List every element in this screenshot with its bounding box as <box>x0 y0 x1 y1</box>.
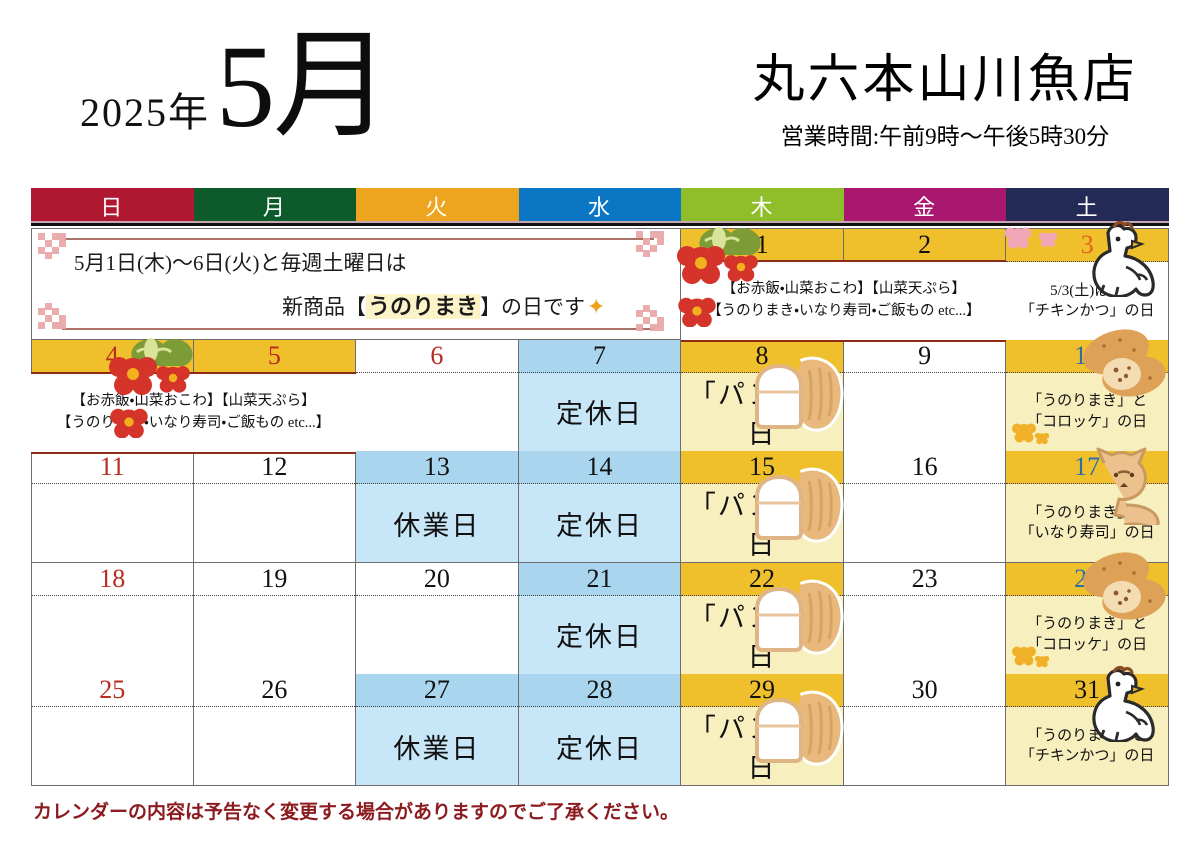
checker-decor-icon <box>38 233 72 259</box>
calendar-day-cell-20[interactable]: 20 <box>356 563 519 675</box>
calendar-day-cell-31[interactable]: 31「うのりまき」と「チキンかつ」の日 <box>1006 674 1169 786</box>
day-content <box>32 707 193 785</box>
day-number: 29 <box>681 674 843 707</box>
calendar-day-cell-19[interactable]: 19 <box>194 563 357 675</box>
day-content <box>844 707 1006 785</box>
day-content <box>32 484 193 562</box>
year-label: 2025年 <box>80 80 210 146</box>
food-menu-text: 【お赤飯・山菜おこわ】【山菜天ぷら】【うのりまき・いなり寿司・ご飯もの etc.… <box>707 279 980 323</box>
calendar-day-cell-28[interactable]: 28定休日 <box>519 674 682 786</box>
day-content <box>194 707 356 785</box>
banner-line2-post: 】の日です <box>480 295 585 319</box>
day-number: 15 <box>681 451 843 484</box>
day-content <box>194 596 356 674</box>
shop-name: 丸六本山川魚店 <box>730 52 1160 109</box>
day-content: 「うのりまき」と「チキンかつ」の日 <box>1006 707 1168 785</box>
banner-product-name: うのりまき <box>366 294 480 319</box>
day-label-text: 「パン」の日 <box>681 373 843 451</box>
day-number: 14 <box>519 451 681 484</box>
calendar-week-row: 18192021定休日22「パン」の日 2324「うのりまき」と「コロッケ」の日 <box>31 563 1169 675</box>
calendar-day-cell-9[interactable]: 9 <box>844 340 1007 452</box>
footer-notice: カレンダーの内容は予告なく変更する場合がありますのでご了承ください。 <box>33 797 679 824</box>
day-content: 「パン」の日 <box>681 484 843 562</box>
day-number: 20 <box>356 563 518 596</box>
page-header: 2025年 5月 丸六本山川魚店 営業時間:午前9時〜午後5時30分 <box>0 0 1200 186</box>
calendar-week-row: 111213休業日14定休日15「パン」の日 1617「うのりまき」と「いなり寿… <box>31 451 1169 563</box>
weekday-header-6: 土 <box>1006 188 1169 223</box>
day-content: 「パン」の日 <box>681 596 843 674</box>
day-content: 定休日 <box>519 373 681 451</box>
day-label-text: 「うのりまき」と「いなり寿司」の日 <box>1020 503 1155 544</box>
calendar-day-cell-18[interactable]: 18 <box>31 563 194 675</box>
day-number: 12 <box>194 451 356 484</box>
calendar-day-cell-22[interactable]: 22「パン」の日 <box>681 563 844 675</box>
calendar-day-cell-15[interactable]: 15「パン」の日 <box>681 451 844 563</box>
day-number: 11 <box>32 451 193 484</box>
calendar-day-cell-26[interactable]: 26 <box>194 674 357 786</box>
day-content: 定休日 <box>519 596 681 674</box>
day-number: 25 <box>32 674 193 707</box>
banner-line2-pre: 新商品【 <box>282 295 366 319</box>
day-number: 8 <box>681 340 843 373</box>
day-number: 16 <box>844 451 1006 484</box>
weekday-header-5: 金 <box>844 188 1007 223</box>
calendar-day-cell-16[interactable]: 16 <box>844 451 1007 563</box>
day-content <box>356 596 518 674</box>
day-number: 7 <box>519 340 681 373</box>
day-content: 定休日 <box>519 707 681 785</box>
day-number: 10 <box>1006 340 1168 373</box>
day-content <box>844 484 1006 562</box>
food-menu-line-1: 【お赤飯・山菜おこわ】【山菜天ぷら】 <box>71 393 315 409</box>
day-number: 5 <box>194 340 356 373</box>
banner-line-1: 5月1日(木)〜6日(火)と毎週土曜日は <box>74 247 680 277</box>
day-label-text: 5/3(土)は、「チキンかつ」の日 <box>1020 281 1155 322</box>
day-number: 30 <box>844 674 1006 707</box>
day-label-text: 「パン」の日 <box>681 707 843 785</box>
food-menu-line-1: 【お赤飯・山菜おこわ】【山菜天ぷら】 <box>722 281 966 297</box>
calendar-week-row: 252627休業日28定休日29「パン」の日 3031「うのりまき」と「チキンか… <box>31 674 1169 786</box>
day-number: 6 <box>356 340 518 373</box>
calendar-day-cell-13[interactable]: 13休業日 <box>356 451 519 563</box>
day-content <box>32 596 193 674</box>
day-number: 9 <box>844 340 1006 373</box>
day-number: 13 <box>356 451 518 484</box>
day-content <box>194 484 356 562</box>
day-number: 22 <box>681 563 843 596</box>
calendar-day-cell-12[interactable]: 12 <box>194 451 357 563</box>
day-content: 「パン」の日 <box>681 373 843 451</box>
day-content <box>356 373 518 451</box>
day-number: 4 <box>32 340 193 373</box>
day-number: 3 <box>1006 229 1168 262</box>
calendar-day-cell-29[interactable]: 29「パン」の日 <box>681 674 844 786</box>
calendar-day-cell-27[interactable]: 27休業日 <box>356 674 519 786</box>
weekday-header-2: 火 <box>356 188 519 223</box>
weekday-header-3: 水 <box>519 188 682 223</box>
day-content: 「うのりまき」と「コロッケ」の日 <box>1006 373 1168 451</box>
day-label-text: 定休日 <box>556 392 643 431</box>
banner-rule-bottom <box>62 328 654 330</box>
day-label-text: 休業日 <box>393 504 480 543</box>
weekday-header-row: 日月火水木金土 <box>31 188 1169 223</box>
day-content <box>844 596 1006 674</box>
banner-rule-top <box>62 238 654 240</box>
calendar-day-cell-21[interactable]: 21定休日 <box>519 563 682 675</box>
calendar-day-cell-17[interactable]: 17「うのりまき」と「いなり寿司」の日 <box>1006 451 1169 563</box>
promo-banner: 5月1日(木)〜6日(火)と毎週土曜日は 新商品【うのりまき】の日です✦ <box>31 228 681 340</box>
day-label-text: 定休日 <box>556 615 643 654</box>
day-number: 27 <box>356 674 518 707</box>
day-label-text: 「パン」の日 <box>681 484 843 562</box>
day-number: 24 <box>1006 563 1168 596</box>
day-label-text: 「うのりまき」と「コロッケ」の日 <box>1027 391 1147 432</box>
day-number: 19 <box>194 563 356 596</box>
day-number: 1 <box>681 229 843 262</box>
calendar-day-cell-24[interactable]: 24「うのりまき」と「コロッケ」の日 <box>1006 563 1169 675</box>
calendar-day-cell-25[interactable]: 25 <box>31 674 194 786</box>
calendar-day-cell-8[interactable]: 8「パン」の日 <box>681 340 844 452</box>
weekday-underline <box>31 223 1169 226</box>
day-label-text: 休業日 <box>393 727 480 766</box>
day-content: 「パン」の日 <box>681 707 843 785</box>
food-menu-text: 【お赤飯・山菜おこわ】【山菜天ぷら】【うのりまき・いなり寿司・ご飯もの etc.… <box>57 391 330 435</box>
sparkle-icon: ✦ <box>587 294 605 319</box>
calendar-day-cell-23[interactable]: 23 <box>844 563 1007 675</box>
food-menu-note: 【お赤飯・山菜おこわ】【山菜天ぷら】【うのりまき・いなり寿司・ご飯もの etc.… <box>681 260 1006 342</box>
day-number: 21 <box>519 563 681 596</box>
calendar-day-cell-6[interactable]: 6 <box>356 340 519 452</box>
day-content: 定休日 <box>519 484 681 562</box>
calendar-day-cell-10[interactable]: 10「うのりまき」と「コロッケ」の日 <box>1006 340 1169 452</box>
food-menu-note: 【お赤飯・山菜おこわ】【山菜天ぷら】【うのりまき・いなり寿司・ご飯もの etc.… <box>31 372 356 454</box>
food-menu-line-2: 【うのりまき・いなり寿司・ご飯もの etc...】 <box>57 415 330 431</box>
weekday-header-0: 日 <box>31 188 194 223</box>
day-number: 31 <box>1006 674 1168 707</box>
calendar-title: 2025年 5月 <box>80 28 389 146</box>
checker-decor-icon <box>38 303 72 329</box>
banner-line-2: 新商品【うのりまき】の日です✦ <box>282 289 680 321</box>
calendar-day-cell-11[interactable]: 11 <box>31 451 194 563</box>
day-number: 2 <box>844 229 1006 262</box>
business-hours: 営業時間:午前9時〜午後5時30分 <box>730 117 1160 151</box>
calendar-day-cell-7[interactable]: 7定休日 <box>519 340 682 452</box>
day-content: 休業日 <box>356 707 518 785</box>
month-label: 5月 <box>216 28 389 146</box>
day-label-text: 定休日 <box>556 504 643 543</box>
day-content: 「うのりまき」と「いなり寿司」の日 <box>1006 484 1168 562</box>
day-number: 17 <box>1006 451 1168 484</box>
calendar-day-cell-30[interactable]: 30 <box>844 674 1007 786</box>
day-label-text: 定休日 <box>556 727 643 766</box>
weekday-header-1: 月 <box>194 188 357 223</box>
day-label-text: 「うのりまき」と「コロッケ」の日 <box>1027 614 1147 655</box>
food-menu-line-2: 【うのりまき・いなり寿司・ご飯もの etc...】 <box>707 303 980 319</box>
calendar-day-cell-14[interactable]: 14定休日 <box>519 451 682 563</box>
day-content <box>844 373 1006 451</box>
day-number: 18 <box>32 563 193 596</box>
day-content: 休業日 <box>356 484 518 562</box>
day-number: 26 <box>194 674 356 707</box>
day-number: 28 <box>519 674 681 707</box>
calendar-grid: 5月1日(木)〜6日(火)と毎週土曜日は 新商品【うのりまき】の日です✦1 <box>31 228 1169 786</box>
weekday-header-4: 木 <box>681 188 844 223</box>
shop-header: 丸六本山川魚店 営業時間:午前9時〜午後5時30分 <box>730 52 1160 151</box>
calendar-day-cell-3[interactable]: 35/3(土)は、「チキンかつ」の日 <box>1006 228 1169 340</box>
day-label-text: 「うのりまき」と「チキンかつ」の日 <box>1020 726 1155 767</box>
checker-decor-icon <box>636 231 670 257</box>
day-content: 「うのりまき」と「コロッケ」の日 <box>1006 596 1168 674</box>
checker-decor-icon <box>636 305 670 331</box>
day-content: 5/3(土)は、「チキンかつ」の日 <box>1006 262 1168 340</box>
day-number: 23 <box>844 563 1006 596</box>
day-label-text: 「パン」の日 <box>681 596 843 674</box>
